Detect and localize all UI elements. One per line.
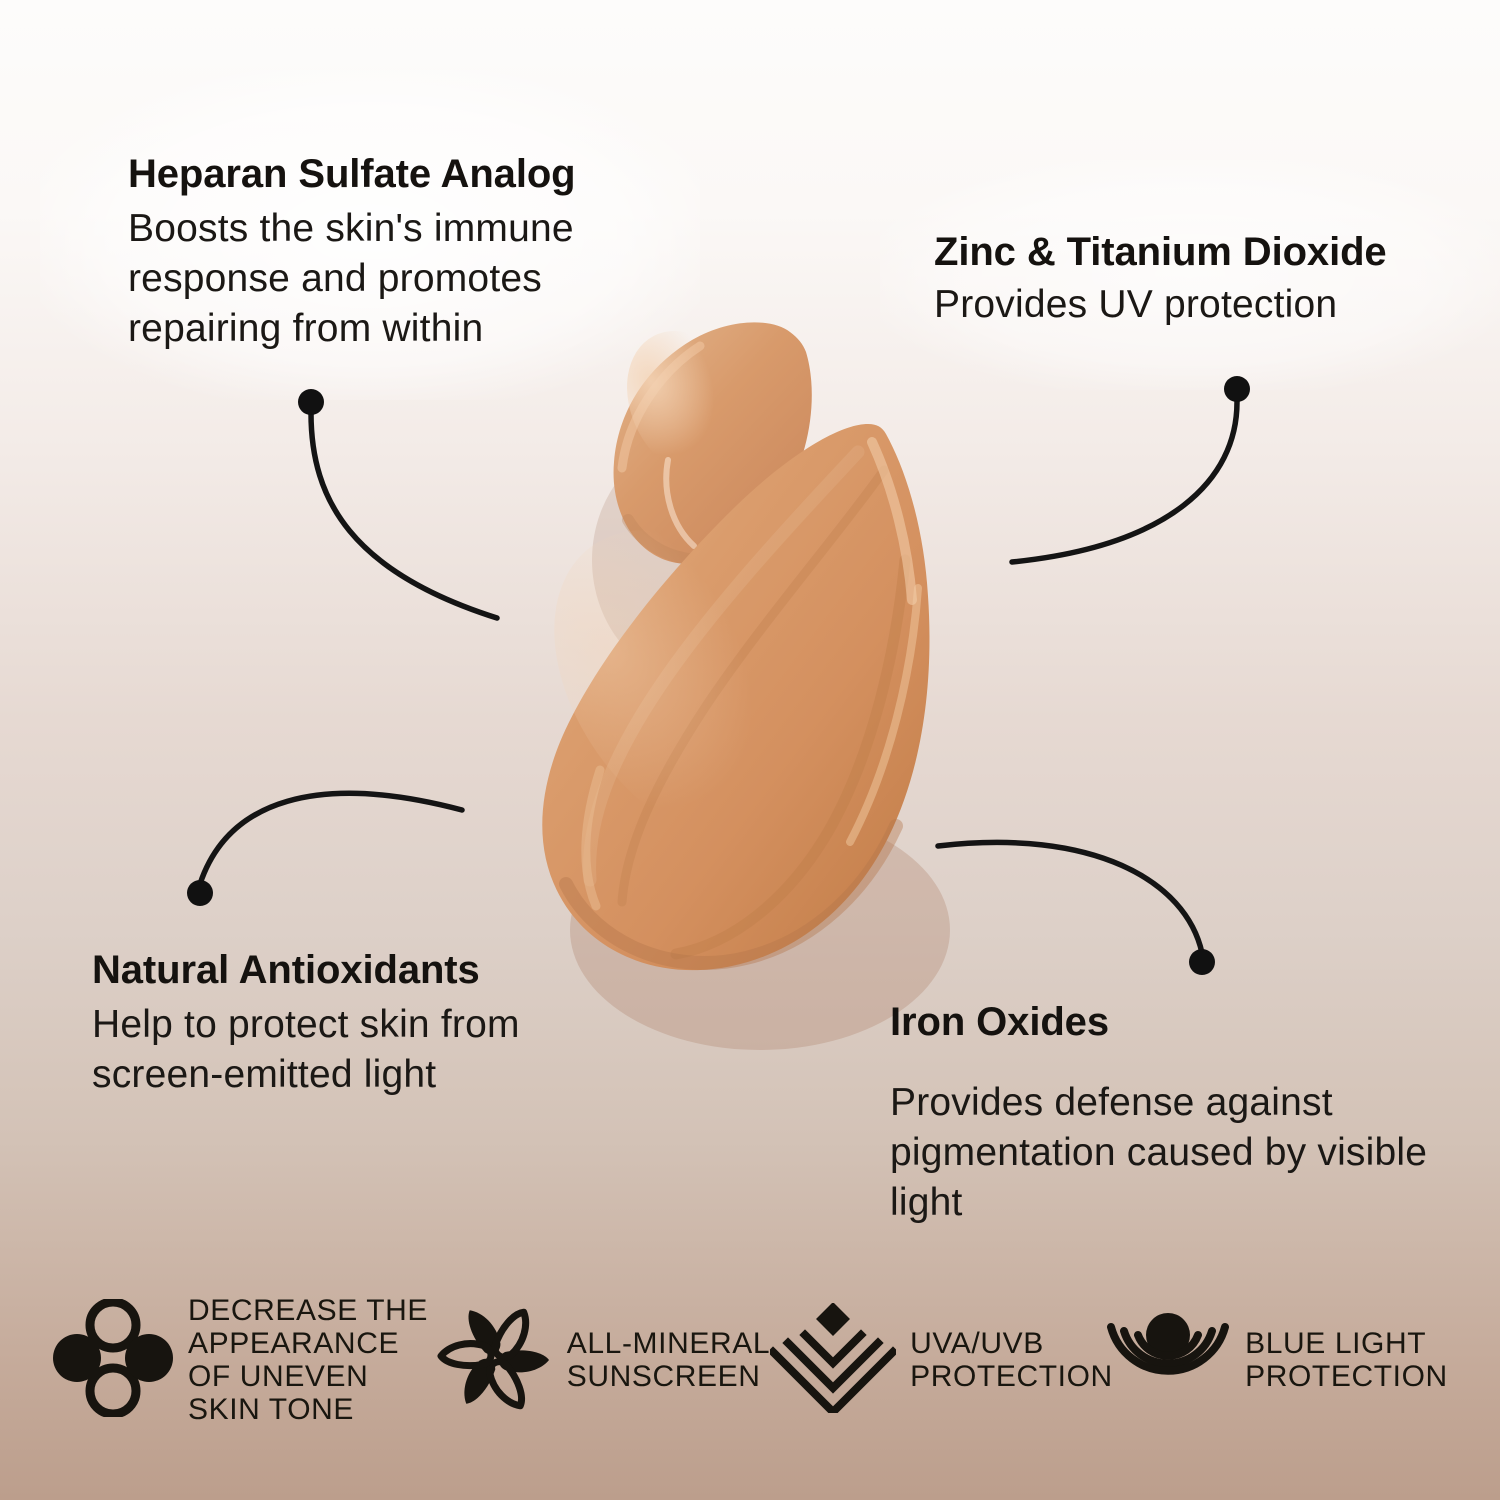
swatch-dollop-small <box>614 322 812 563</box>
callout-heparan-sulfate-analog: Heparan Sulfate Analog Boosts the skin's… <box>128 150 668 354</box>
benefit-label: Decrease the appearance of uneven skin t… <box>188 1294 428 1426</box>
benefit-label: UVA/UVB protection <box>910 1327 1113 1393</box>
callout-title: Natural Antioxidants <box>92 946 632 994</box>
callout-zinc-titanium-dioxide: Zinc & Titanium Dioxide Provides UV prot… <box>934 228 1454 330</box>
benefits-strip: Decrease the appearance of uneven skin t… <box>0 1294 1500 1426</box>
callout-iron-oxides: Iron Oxides Provides defense against pig… <box>890 998 1430 1228</box>
swatch-dollop-large <box>542 424 929 970</box>
chevrons-down-icon <box>770 1303 896 1418</box>
benefit-label: Blue light protection <box>1245 1327 1448 1393</box>
connector-dot-iron <box>1189 949 1215 975</box>
benefit-all-mineral-sunscreen: All-mineral sunscreen <box>437 1300 770 1421</box>
four-dots-icon <box>52 1299 174 1422</box>
benefit-uva-uvb-protection: UVA/UVB protection <box>770 1303 1105 1418</box>
callout-title: Iron Oxides <box>890 998 1430 1046</box>
callout-body: Provides defense against pigmentation ca… <box>890 1078 1430 1228</box>
connector-heparan <box>311 413 497 618</box>
connector-dot-heparan <box>298 389 324 415</box>
connector-dot-zinc <box>1224 376 1250 402</box>
callout-body: Help to protect skin from screen-emitted… <box>92 1000 632 1100</box>
connector-iron <box>938 842 1202 953</box>
callout-body: Boosts the skin's immune response and pr… <box>128 204 668 354</box>
flower-petals-icon <box>437 1300 553 1421</box>
connector-zinc <box>1012 402 1237 562</box>
callout-body: Provides UV protection <box>934 280 1454 330</box>
benefit-blue-light-protection: Blue light protection <box>1105 1303 1448 1418</box>
infographic-canvas: Heparan Sulfate Analog Boosts the skin's… <box>0 0 1500 1500</box>
benefit-decrease-uneven-skin-tone: Decrease the appearance of uneven skin t… <box>52 1294 437 1426</box>
callout-title: Heparan Sulfate Analog <box>128 150 668 198</box>
callout-natural-antioxidants: Natural Antioxidants Help to protect ski… <box>92 946 632 1100</box>
connector-antioxidants <box>200 793 462 884</box>
radiating-waves-icon <box>1105 1303 1231 1418</box>
callout-title: Zinc & Titanium Dioxide <box>934 228 1454 276</box>
connector-dot-antioxidants <box>187 880 213 906</box>
benefit-label: All-mineral sunscreen <box>567 1327 770 1393</box>
